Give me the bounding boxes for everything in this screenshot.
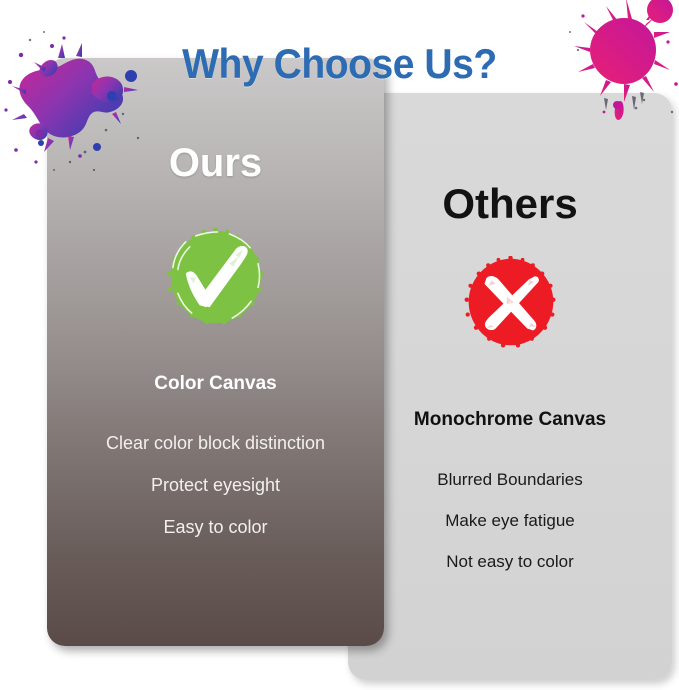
list-item: Easy to color: [47, 517, 384, 538]
list-item: Not easy to color: [348, 552, 672, 572]
cross-circle-icon: [464, 256, 557, 349]
list-item: Clear color block distinction: [47, 433, 384, 454]
heading-others: Others: [348, 180, 672, 228]
check-circle-icon: [166, 228, 265, 327]
feature-list-ours: Clear color block distinction Protect ey…: [47, 433, 384, 559]
feature-list-others: Blurred Boundaries Make eye fatigue Not …: [348, 470, 672, 593]
subtitle-others: Monochrome Canvas: [348, 409, 672, 431]
list-item: Make eye fatigue: [348, 511, 672, 531]
heading-ours: Ours: [47, 141, 384, 186]
list-item: Protect eyesight: [47, 475, 384, 496]
list-item: Blurred Boundaries: [348, 470, 672, 490]
page-title: Why Choose Us?: [24, 40, 655, 88]
promo-comparison-graphic: Why Choose Us? Ours: [0, 0, 679, 690]
subtitle-ours: Color Canvas: [47, 373, 384, 395]
